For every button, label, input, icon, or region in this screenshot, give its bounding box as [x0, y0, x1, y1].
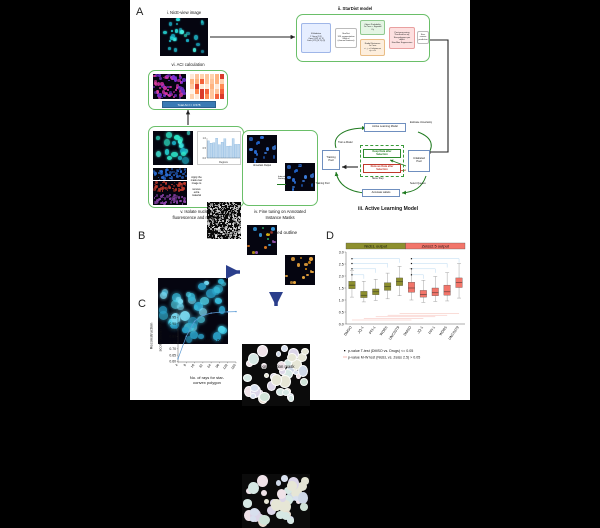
svg-text:32: 32	[198, 363, 204, 368]
significance-dot	[351, 268, 352, 269]
x-tick-label: PFI-1	[428, 325, 436, 335]
panel-d-chart: NicEL outputZeiss2.5 output0.00.51.01.52…	[330, 238, 468, 378]
significance-dot	[411, 263, 412, 264]
svg-text:1.5: 1.5	[339, 286, 344, 290]
x-tick-label: UNC0379	[388, 325, 400, 340]
legend-dot-icon	[344, 350, 345, 351]
svg-text:0.0: 0.0	[339, 322, 344, 326]
data-point	[202, 315, 203, 316]
significance-bracket	[352, 275, 364, 279]
legend-text-mwtest: p-value M-W test (NicEL vs. Zeiss 2.5) >…	[348, 355, 420, 359]
mask-blob	[276, 480, 282, 487]
legend-text-ttest: p-value T-test (DMSO vs. Drugs) <= 0.05	[348, 349, 413, 353]
mask-blob	[264, 499, 269, 504]
data-point	[186, 336, 187, 337]
svg-text:96: 96	[215, 363, 221, 368]
x-tick-label: PFI-1	[368, 325, 376, 335]
svg-text:0.85: 0.85	[169, 328, 176, 332]
mean-iou-annotation: Mean IoU > 0.8	[193, 338, 224, 343]
box	[361, 291, 368, 297]
mask-blob	[243, 499, 253, 507]
significance-bracket	[411, 264, 447, 268]
drug-comparison-boxplot: NicEL outputZeiss2.5 output0.00.51.01.52…	[330, 238, 468, 378]
data-point	[177, 358, 178, 359]
significance-dot	[351, 274, 352, 275]
svg-text:3.0: 3.0	[339, 250, 344, 254]
box	[444, 285, 451, 295]
mask-blob	[257, 475, 268, 487]
svg-text:0.75: 0.75	[169, 341, 176, 345]
svg-text:1.0: 1.0	[339, 298, 344, 302]
svg-text:128: 128	[222, 363, 229, 370]
significance-dot	[411, 274, 412, 275]
svg-text:2.0: 2.0	[339, 274, 344, 278]
reconstruction-score-plot: 0.600.650.700.750.800.850.900.951.004816…	[148, 306, 240, 394]
data-point	[219, 312, 220, 313]
mask-blob	[261, 490, 267, 496]
svg-text:8: 8	[183, 363, 187, 367]
mask-blob	[250, 516, 257, 522]
x-tick-label: DMSO	[343, 325, 353, 336]
x-tick-label: JQ-1	[416, 325, 424, 334]
x-tick-label: JQ-1	[357, 325, 365, 334]
x-tick-label: UNC0379	[448, 325, 460, 340]
mask-blob	[282, 512, 291, 519]
svg-text:160: 160	[230, 363, 237, 370]
b-segmentation-mask-image	[242, 474, 310, 528]
mask-blob	[298, 492, 308, 504]
y-axis-label-line2: score (mean IoU)	[158, 320, 163, 352]
significance-dot	[351, 263, 352, 264]
mask-blob	[259, 515, 270, 525]
significance-bracket	[411, 259, 459, 263]
significance-dot	[411, 268, 412, 269]
svg-text:0.95: 0.95	[169, 316, 176, 320]
mask-blob	[250, 508, 259, 516]
x-tick-label: WDR5	[439, 325, 448, 336]
significance-bracket	[411, 275, 423, 279]
significance-bracket	[352, 264, 388, 268]
mask-blob	[277, 489, 287, 499]
svg-text:0.70: 0.70	[169, 347, 176, 351]
svg-text:0.90: 0.90	[169, 322, 176, 326]
mask-blob	[271, 499, 282, 511]
x-axis-label-line2: convex polygon	[193, 380, 221, 385]
svg-text:64: 64	[207, 363, 213, 368]
significance-bracket	[352, 259, 400, 263]
data-point	[210, 312, 211, 313]
mask-blob	[300, 503, 308, 511]
figure-canvas: A i. NicE-view image ii. S	[130, 0, 470, 400]
panel-letter-c: C	[138, 298, 146, 310]
mask-blob	[301, 477, 309, 484]
panel-c-chart: 0.600.650.700.750.800.850.900.951.004816…	[148, 306, 240, 394]
reconstruction-score-line	[178, 312, 236, 359]
significance-dot	[411, 258, 412, 259]
svg-text:0.5: 0.5	[339, 310, 344, 314]
box	[420, 290, 427, 297]
group-header-label: NicEL output	[364, 243, 388, 248]
significance-bracket	[411, 269, 435, 273]
svg-text:16: 16	[190, 363, 196, 368]
x-tick-label: DMSO	[403, 325, 413, 336]
significance-bracket	[352, 269, 376, 273]
data-point	[227, 311, 228, 312]
mask-blob	[248, 482, 258, 494]
svg-text:1.00: 1.00	[169, 309, 176, 313]
svg-text:0.80: 0.80	[169, 335, 176, 339]
box	[432, 288, 439, 296]
svg-text:4: 4	[174, 363, 178, 367]
data-point	[235, 311, 236, 312]
x-tick-label: WDR5	[379, 325, 388, 336]
group-header-label: Zeiss2.5 output	[422, 243, 450, 248]
mask-blob	[287, 481, 297, 490]
svg-text:0.65: 0.65	[169, 353, 176, 357]
svg-text:2.5: 2.5	[339, 262, 344, 266]
mask-blob	[281, 475, 288, 482]
data-point	[194, 321, 195, 322]
y-axis-label-line1: Reconstruction	[149, 323, 154, 350]
significance-dot	[351, 258, 352, 259]
box	[408, 282, 415, 292]
